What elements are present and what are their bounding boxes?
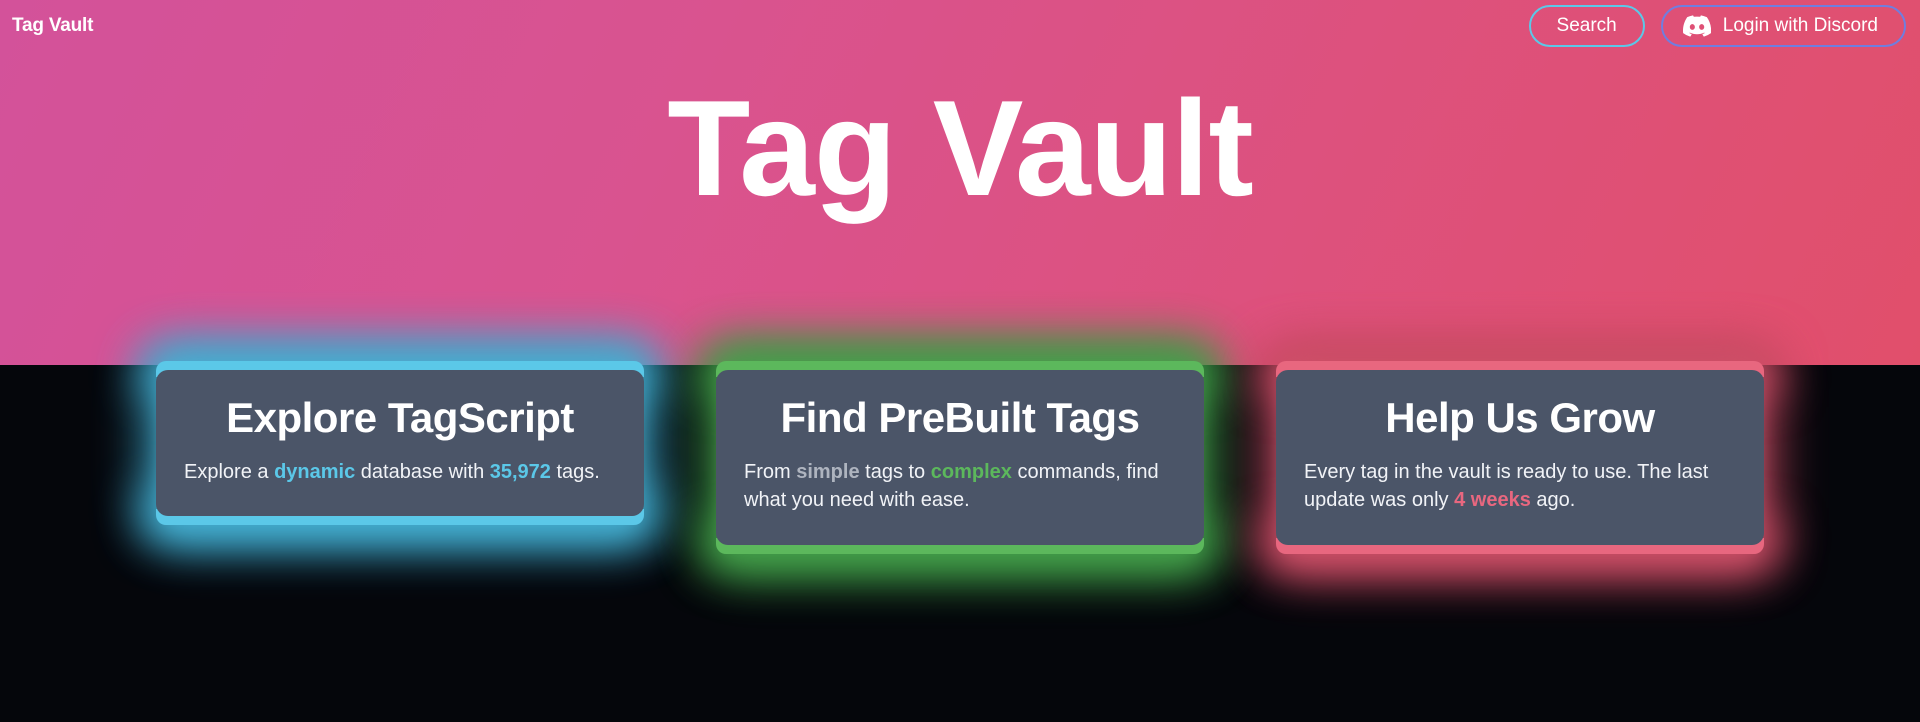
discord-logo-icon (1683, 15, 1711, 37)
search-button-label: Search (1557, 15, 1617, 37)
card-title: Explore TagScript (184, 396, 616, 440)
card-body-highlight: dynamic (274, 461, 355, 483)
discord-button-label: Login with Discord (1723, 15, 1878, 37)
login-with-discord-button[interactable]: Login with Discord (1661, 5, 1906, 47)
card-surface: Explore TagScriptExplore a dynamic datab… (156, 370, 644, 516)
card-title: Help Us Grow (1304, 396, 1736, 440)
navbar-actions: Search Login with Discord (1529, 5, 1906, 47)
feature-card-explore-tagscript[interactable]: Explore TagScriptExplore a dynamic datab… (156, 370, 644, 516)
card-body-highlight: 35,972 (490, 461, 551, 483)
card-body-text: From simple tags to complex commands, fi… (744, 458, 1176, 515)
card-body-highlight: simple (796, 461, 859, 483)
card-title: Find PreBuilt Tags (744, 396, 1176, 440)
search-button[interactable]: Search (1529, 5, 1645, 47)
navbar: Tag Vault Search Login with Discord (0, 0, 1920, 52)
card-body-text: Every tag in the vault is ready to use. … (1304, 458, 1736, 515)
feature-card-help-us-grow[interactable]: Help Us GrowEvery tag in the vault is re… (1276, 370, 1764, 545)
feature-card-find-prebuilt-tags[interactable]: Find PreBuilt TagsFrom simple tags to co… (716, 370, 1204, 545)
card-body-highlight: 4 weeks (1454, 489, 1531, 511)
card-body-text: Explore a dynamic database with 35,972 t… (184, 458, 616, 486)
brand-logo-text[interactable]: Tag Vault (12, 15, 93, 37)
card-body-segment: Explore a (184, 461, 274, 483)
card-body-segment: ago. (1531, 489, 1575, 511)
page-root: Tag Vault Search Login with Discord Tag … (0, 0, 1920, 722)
card-body-segment: tags. (551, 461, 600, 483)
card-body-segment: From (744, 461, 796, 483)
card-body-highlight: complex (931, 461, 1012, 483)
card-body-segment: tags to (860, 461, 931, 483)
page-title: Tag Vault (0, 80, 1920, 216)
card-surface: Find PreBuilt TagsFrom simple tags to co… (716, 370, 1204, 545)
feature-cards-row: Explore TagScriptExplore a dynamic datab… (0, 370, 1920, 722)
card-surface: Help Us GrowEvery tag in the vault is re… (1276, 370, 1764, 545)
card-body-segment: database with (355, 461, 490, 483)
